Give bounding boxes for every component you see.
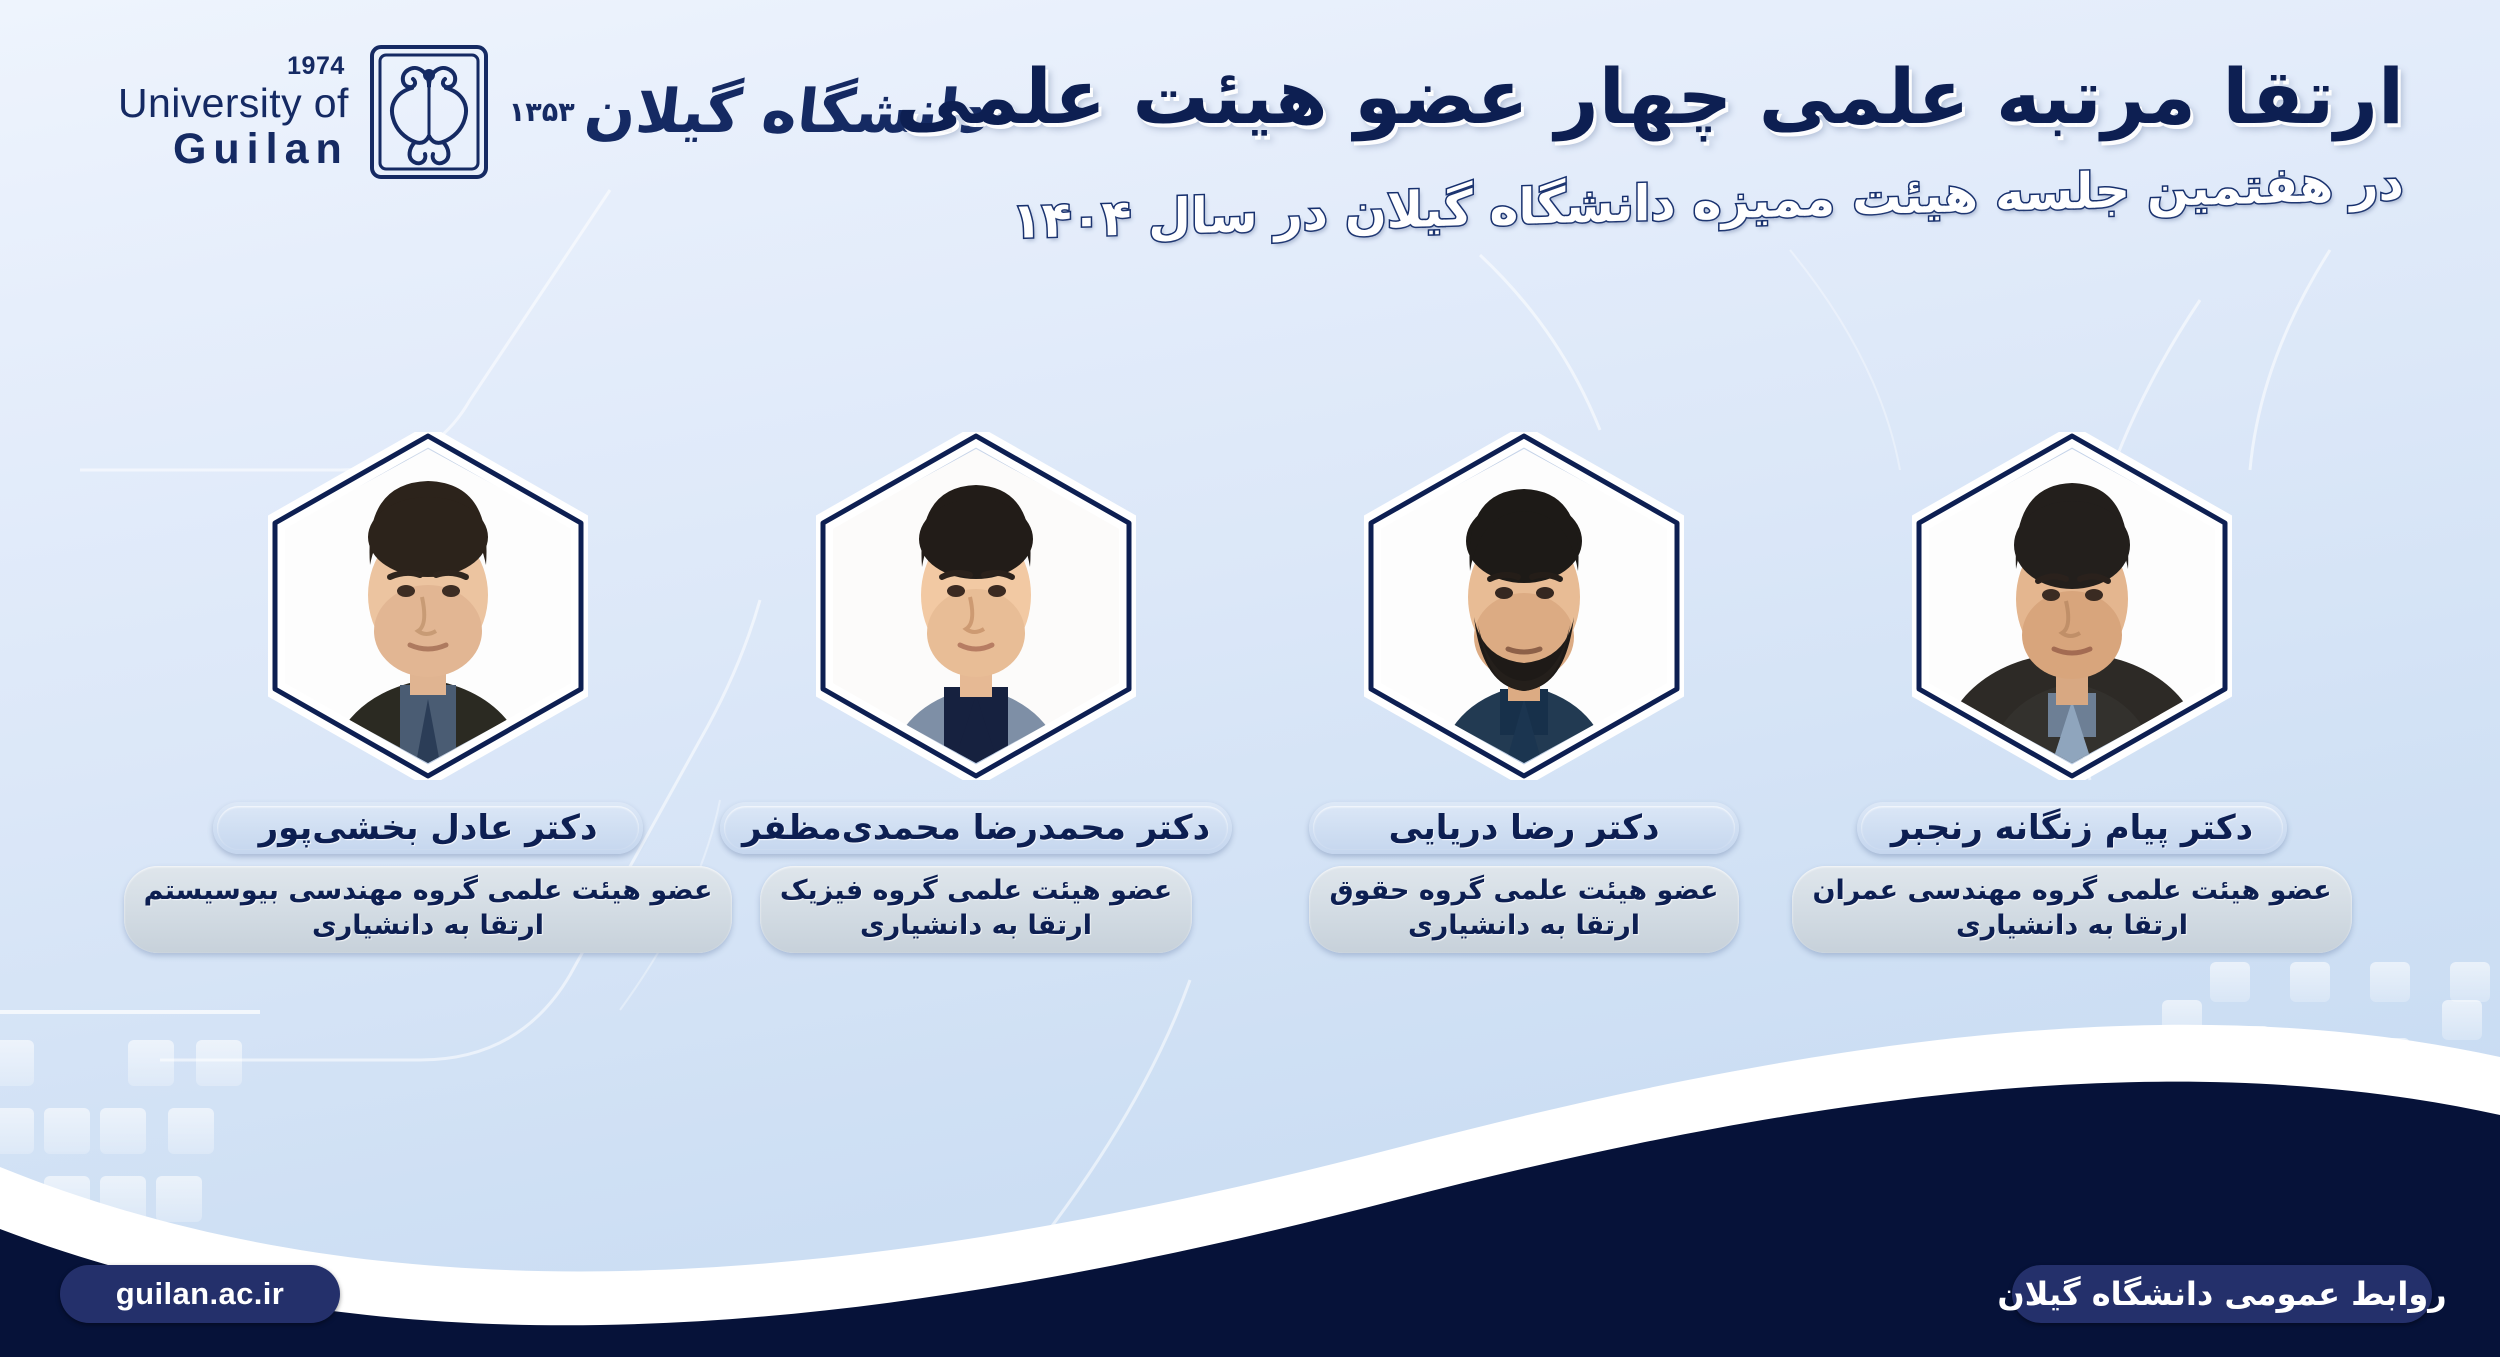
logo-english-text: 1974 University of Guilan xyxy=(118,54,349,171)
hexagon-frame xyxy=(816,432,1136,780)
faculty-card: دکتر پیام زنگانه رنجبر عضو هیئت علمی گرو… xyxy=(1850,432,2295,953)
hexagon-frame xyxy=(1912,432,2232,780)
faculty-list: دکتر پیام زنگانه رنجبر عضو هیئت علمی گرو… xyxy=(0,432,2500,953)
faculty-department: عضو هیئت علمی گروه فیزیک xyxy=(780,874,1172,909)
avatar xyxy=(268,432,588,780)
logo-guilan: Guilan xyxy=(118,128,349,171)
page-subtitle: در هفتمین جلسه هیئت ممیزه دانشگاه گیلان … xyxy=(895,154,2404,253)
faculty-department: عضو هیئت علمی گروه مهندسی عمران xyxy=(1812,874,2331,909)
logo-university-of: University of xyxy=(118,83,349,124)
university-logo: 1974 University of Guilan ۱۳۵۳ دانشگاه گ… xyxy=(118,42,990,182)
poster-header: 1974 University of Guilan ۱۳۵۳ دانشگاه گ… xyxy=(0,0,2500,300)
faculty-name: دکتر عادل بخشی‌پور xyxy=(259,808,598,848)
page-title: ارتقا مرتبه علمی چهار عضو هیئت علمی xyxy=(895,52,2404,142)
public-relations-badge[interactable]: روابط عمومی دانشگاه گیلان xyxy=(2012,1265,2432,1323)
faculty-name: دکتر پیام زنگانه رنجبر xyxy=(1891,808,2253,848)
public-relations-label: روابط عمومی دانشگاه گیلان xyxy=(1997,1275,2446,1313)
guilan-emblem-icon xyxy=(367,42,491,182)
avatar xyxy=(1912,432,2232,780)
faculty-department: عضو هیئت علمی گروه حقوق xyxy=(1330,874,1719,909)
faculty-name-pill: دکتر عادل بخشی‌پور xyxy=(213,802,643,854)
faculty-name-pill: دکتر محمدرضا محمدی‌مظفر xyxy=(720,802,1232,854)
website-url: guilan.ac.ir xyxy=(116,1276,284,1312)
faculty-department: عضو هیئت علمی گروه مهندسی بیوسیستم xyxy=(144,874,713,909)
avatar xyxy=(1364,432,1684,780)
faculty-name-pill: دکتر پیام زنگانه رنجبر xyxy=(1857,802,2287,854)
faculty-card: دکتر محمدرضا محمدی‌مظفر عضو هیئت علمی گر… xyxy=(754,432,1199,953)
title-block: ارتقا مرتبه علمی چهار عضو هیئت علمی در ه… xyxy=(895,52,2404,211)
avatar xyxy=(816,432,1136,780)
faculty-card: دکتر رضا دریایی عضو هیئت علمی گروه حقوق … xyxy=(1302,432,1747,953)
logo-founding-year-en: 1974 xyxy=(118,54,349,79)
faculty-card: دکتر عادل بخشی‌پور عضو هیئت علمی گروه مه… xyxy=(206,432,651,953)
faculty-name-pill: دکتر رضا دریایی xyxy=(1309,802,1739,854)
faculty-name: دکتر محمدرضا محمدی‌مظفر xyxy=(742,808,1210,848)
faculty-name: دکتر رضا دریایی xyxy=(1389,808,1660,848)
logo-founding-year-fa: ۱۳۵۳ xyxy=(509,97,575,128)
poster-canvas: 1974 University of Guilan ۱۳۵۳ دانشگاه گ… xyxy=(0,0,2500,1357)
hexagon-frame xyxy=(1364,432,1684,780)
website-badge[interactable]: guilan.ac.ir xyxy=(60,1265,340,1323)
hexagon-frame xyxy=(268,432,588,780)
